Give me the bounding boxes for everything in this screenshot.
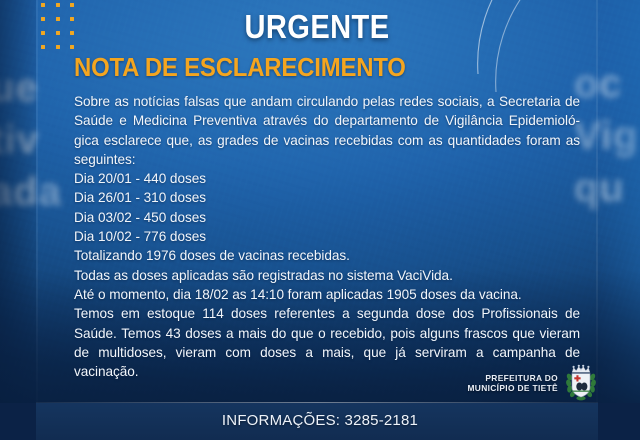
page-title: URGENTE <box>70 8 565 46</box>
footer-bar: INFORMAÇÕES: 3285-2181 <box>0 403 640 440</box>
poster-canvas: ue tiv ada oc Vig qu URGENTE NOTA DE ESC… <box>0 0 640 440</box>
dot <box>41 17 45 21</box>
body-paragraph-intro: Sobre as notícias falsas que andam circu… <box>74 92 580 169</box>
subtitle-heading: NOTA DE ESCLARECIMENTO <box>74 52 406 83</box>
dose-line-3: Dia 03/02 - 450 doses <box>74 208 580 227</box>
dot <box>56 17 60 21</box>
dot <box>41 3 45 7</box>
dot <box>70 3 74 7</box>
dose-line-2: Dia 26/01 - 310 doses <box>74 188 580 207</box>
notice-body: Sobre as notícias falsas que andam circu… <box>74 92 580 381</box>
logo-text-block: PREFEITURA DO MUNICÍPIO DE TIETÊ <box>467 373 558 394</box>
dose-line-4: Dia 10/02 - 776 doses <box>74 227 580 246</box>
logo-line-2: MUNICÍPIO DE TIETÊ <box>467 383 558 394</box>
dot <box>41 45 45 49</box>
dot <box>41 31 45 35</box>
total-received-line: Totalizando 1976 doses de vacinas recebi… <box>74 246 580 265</box>
logo-line-1: PREFEITURA DO <box>467 373 558 384</box>
applied-line: Até o momento, dia 18/02 as 14:10 foram … <box>74 285 580 304</box>
dot <box>56 45 60 49</box>
footer-info-text: INFORMAÇÕES: 3285-2181 <box>0 412 640 429</box>
dot <box>56 31 60 35</box>
dose-line-1: Dia 20/01 - 440 doses <box>74 169 580 188</box>
dot <box>56 3 60 7</box>
registry-line: Todas as doses aplicadas são registradas… <box>74 266 580 285</box>
prefecture-logo: PREFEITURA DO MUNICÍPIO DE TIETÊ <box>452 362 598 404</box>
coat-of-arms-icon <box>564 363 598 403</box>
